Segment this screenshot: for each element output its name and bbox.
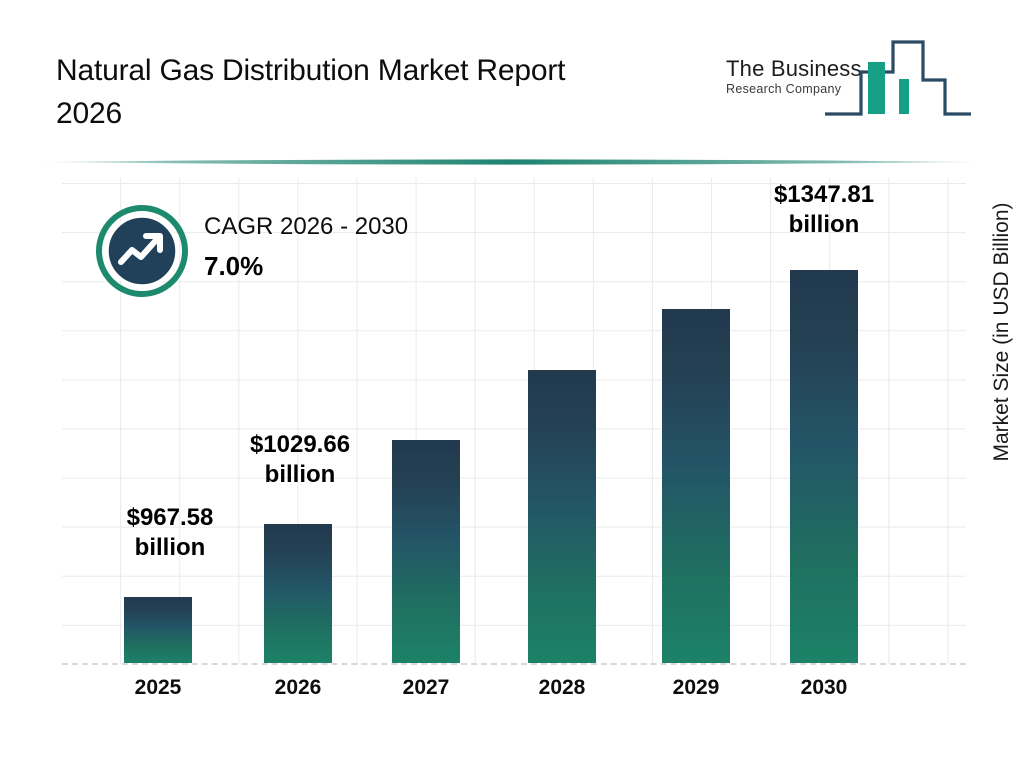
cagr-text-block: CAGR 2026 - 2030 7.0%	[204, 210, 504, 284]
bar-2030[interactable]	[790, 270, 858, 663]
chart-page: Natural Gas Distribution Market Report 2…	[0, 0, 1024, 768]
x-tick-2025: 2025	[103, 676, 213, 700]
page-title: Natural Gas Distribution Market Report 2…	[56, 49, 696, 135]
bar-chart-logo-mark	[823, 34, 973, 126]
x-tick-2027: 2027	[371, 676, 481, 700]
bar-2025[interactable]	[124, 597, 192, 663]
x-tick-2030: 2030	[769, 676, 879, 700]
x-axis-labels: 2025 2026 2027 2028 2029 2030	[62, 676, 966, 716]
cagr-period-label: CAGR 2026 - 2030	[204, 210, 504, 244]
bar-value-label-2030: $1347.81 billion	[738, 180, 910, 240]
company-logo: The Business Research Company	[718, 32, 970, 128]
bar-2029[interactable]	[662, 309, 730, 663]
bar-2026[interactable]	[264, 524, 332, 663]
y-axis-title: Market Size (in USD Billion)	[990, 187, 1014, 477]
cagr-badge: CAGR 2026 - 2030 7.0%	[96, 205, 516, 305]
header-divider	[40, 158, 984, 166]
bar-2028[interactable]	[528, 370, 596, 663]
bar-2027[interactable]	[392, 440, 460, 663]
cagr-value-label: 7.0%	[204, 248, 504, 284]
bar-value-label-2026: $1029.66 billion	[214, 430, 386, 490]
chart-baseline	[62, 663, 966, 665]
trending-up-icon	[96, 205, 188, 297]
bar-value-label-2025: $967.58 billion	[84, 503, 256, 563]
x-tick-2029: 2029	[641, 676, 751, 700]
x-tick-2026: 2026	[243, 676, 353, 700]
report-header: Natural Gas Distribution Market Report 2…	[0, 0, 1024, 160]
x-tick-2028: 2028	[507, 676, 617, 700]
